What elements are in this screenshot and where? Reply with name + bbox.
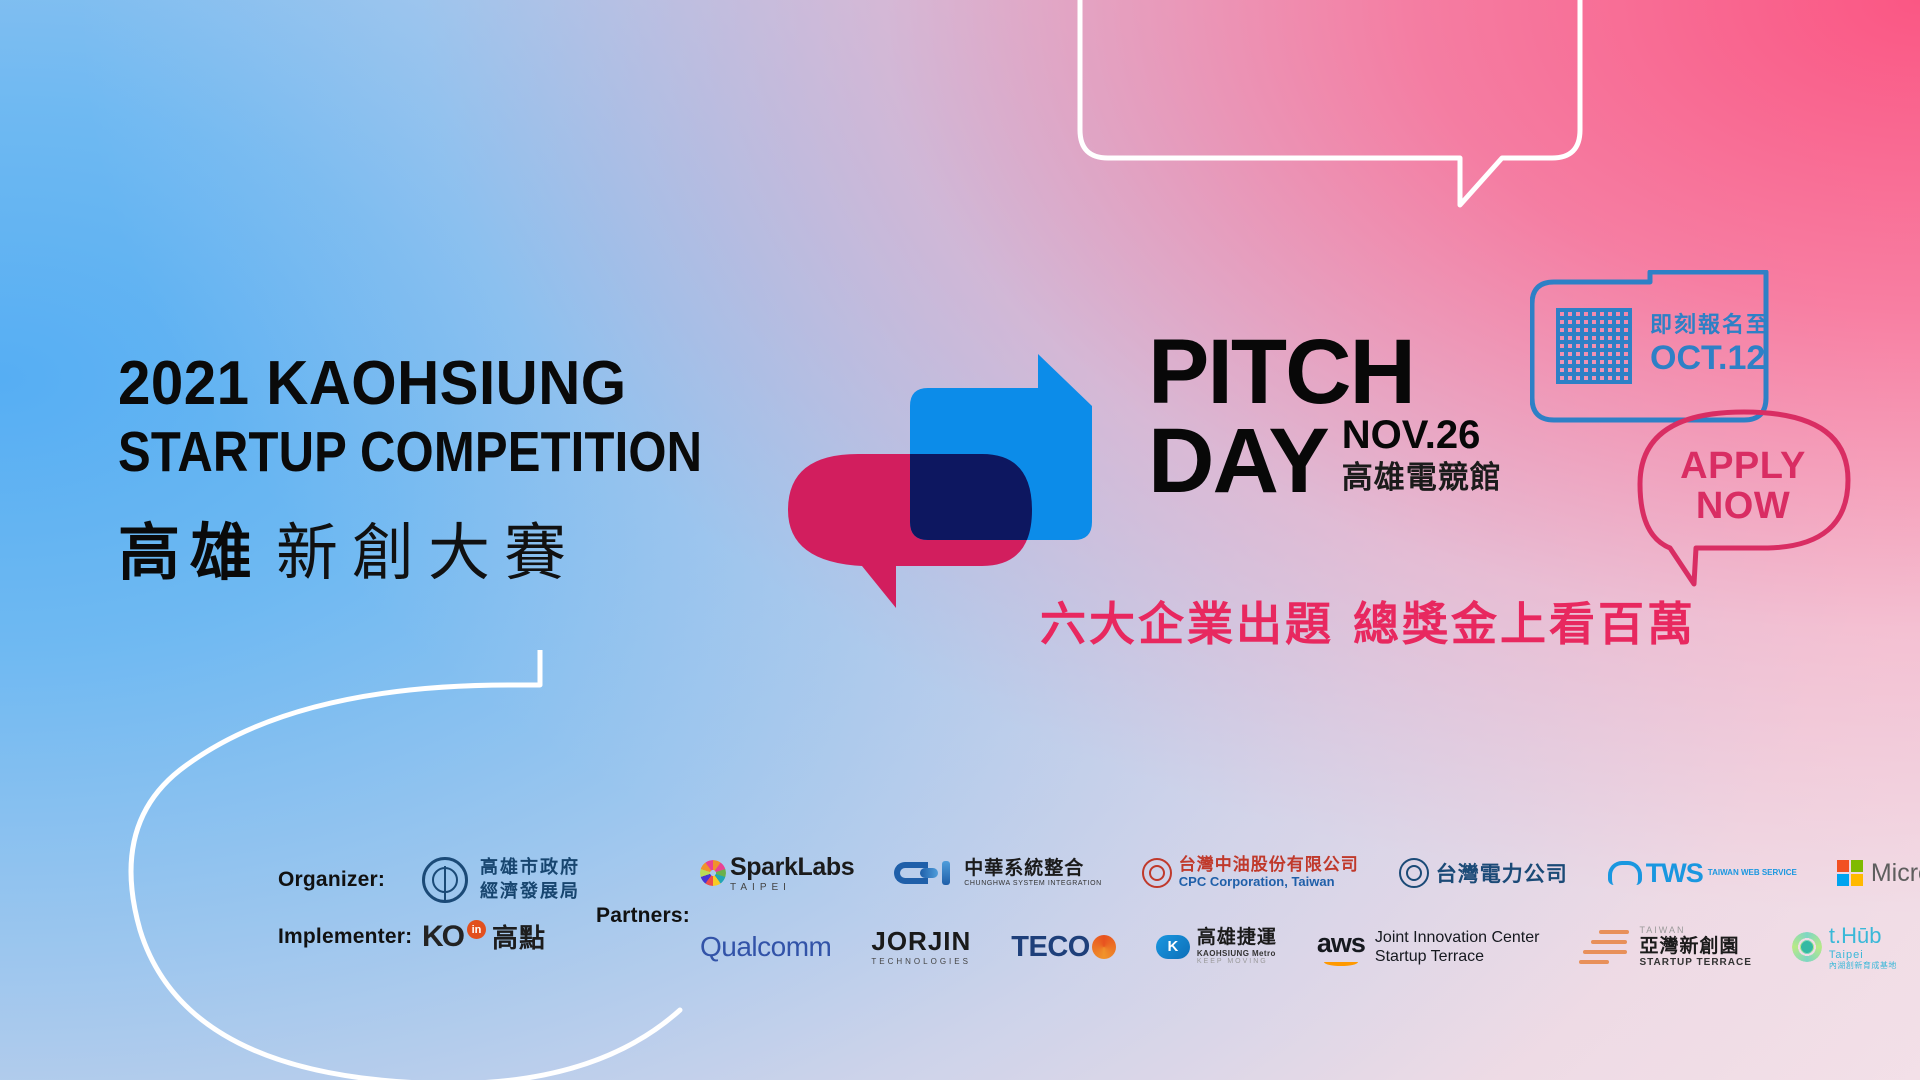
partner-microsoft: Microsoft: [1837, 859, 1920, 888]
partner-qualcomm: Qualcomm: [700, 931, 831, 963]
tws-name: TWS: [1646, 858, 1703, 889]
apply-now-label: APPLY NOW: [1636, 446, 1850, 527]
registration-deadline-card: 即刻報名至 OCT.12: [1530, 270, 1790, 410]
cpc-name: 台灣中油股份有限公司: [1179, 856, 1359, 876]
qr-row: 即刻報名至 OCT.12: [1556, 308, 1770, 384]
implementer-label: Implementer:: [278, 925, 400, 949]
partner-sparklabs: SparkLabs TAIPEI: [700, 853, 854, 893]
title-year-city: 2021 KAOHSIUNG: [118, 352, 720, 415]
aws-arrow-icon: [1324, 958, 1358, 966]
thub-sub2: 內湖創新育成基地: [1829, 961, 1897, 970]
prize-tagline: 六大企業出題 總獎金上看百萬: [1040, 588, 1696, 654]
csi-name: 中華系統整合: [964, 858, 1102, 880]
apply-now-button[interactable]: APPLY NOW: [1636, 408, 1886, 590]
kaohsiung-metro-name: 高雄捷運: [1197, 927, 1277, 949]
title-competition: STARTUP COMPETITION: [118, 419, 668, 486]
credits-section: Organizer: 高雄市政府 經濟發展局 Implementer: KO i…: [0, 826, 1920, 1026]
partner-csi: 中華系統整合 CHUNGHWA SYSTEM INTEGRATION: [894, 858, 1102, 888]
kaohsiung-metro-sub: KAOHSIUNG Metro: [1197, 949, 1277, 958]
thub-name: t.Hūb: [1829, 923, 1897, 948]
startup-terrace-cap: TAIWAN: [1639, 925, 1751, 935]
teco-name: TECO: [1011, 931, 1090, 964]
title-chinese-light: 新創大賽: [276, 502, 580, 592]
partner-taipower: 台灣電力公司: [1399, 858, 1568, 888]
partner-logo-grid: SparkLabs TAIPEI 中華系統整合 CHUNGHWA SYSTEM …: [700, 842, 1890, 978]
kaohsiung-metro-icon: K: [1156, 935, 1190, 959]
title-chinese-bold: 高雄: [118, 502, 262, 592]
apply-line1: APPLY: [1636, 446, 1850, 486]
jorjin-sub: TECHNOLOGIES: [871, 957, 971, 966]
outline-bubble-top: [1060, 0, 1600, 240]
implementer-row: Implementer: KO in 高點: [278, 918, 546, 955]
linkedin-badge-icon: in: [467, 920, 486, 939]
tws-sub: TAIWAN WEB SERVICE: [1708, 868, 1797, 878]
kaohsiung-government-seal-icon: [422, 857, 468, 903]
organizer-name-line2: 經濟發展局: [480, 880, 580, 904]
apply-line2: NOW: [1636, 486, 1850, 526]
organizer-name: 高雄市政府 經濟發展局: [480, 856, 580, 905]
taipower-name: 台灣電力公司: [1436, 858, 1568, 888]
tws-cloud-icon: [1608, 861, 1642, 885]
day-date-row: DAY NOV.26 高雄電競館: [1148, 415, 1502, 504]
implementer-mark: KO: [422, 920, 463, 954]
event-date: NOV.26: [1342, 415, 1502, 455]
partner-jorjin: JORJIN TECHNOLOGIES: [871, 927, 971, 966]
taipower-emblem-icon: [1399, 858, 1429, 888]
kaohsiung-metro-sub2: KEEP MOVING: [1197, 958, 1277, 966]
cpc-sub: CPC Corporation, Taiwan: [1179, 875, 1359, 890]
day-word: DAY: [1148, 419, 1328, 504]
sparklabs-sub: TAIPEI: [730, 882, 854, 894]
pitch-word: PITCH: [1148, 330, 1502, 415]
partner-kaohsiung-metro: K 高雄捷運 KAOHSIUNG Metro KEEP MOVING: [1156, 927, 1277, 966]
implementer-logo: KO in 高點: [422, 918, 546, 955]
partner-cpc: 台灣中油股份有限公司 CPC Corporation, Taiwan: [1142, 856, 1359, 890]
partner-row-1: SparkLabs TAIPEI 中華系統整合 CHUNGHWA SYSTEM …: [700, 842, 1890, 904]
organizer-name-line1: 高雄市政府: [480, 856, 580, 880]
microsoft-name: Microsoft: [1871, 859, 1920, 888]
title-chinese: 高雄 新創大賽: [118, 502, 758, 592]
partner-teco: TECO: [1011, 931, 1116, 964]
organizer-label: Organizer:: [278, 868, 400, 892]
event-date-venue: NOV.26 高雄電競館: [1342, 415, 1502, 504]
partner-aws-startup-terrace: aws Joint Innovation Center Startup Terr…: [1317, 928, 1540, 966]
deadline-text: 即刻報名至 OCT.12: [1650, 314, 1770, 378]
pitch-day-block: PITCH DAY NOV.26 高雄電競館: [1148, 330, 1502, 503]
partner-startup-terrace: TAIWAN 亞灣新創園 STARTUP TERRACE: [1579, 925, 1751, 969]
startup-terrace-sub: STARTUP TERRACE: [1639, 957, 1751, 969]
aws-sub: Joint Innovation Center: [1375, 928, 1540, 947]
deadline-date: OCT.12: [1650, 340, 1770, 377]
headline-block: 2021 KAOHSIUNG STARTUP COMPETITION 高雄 新創…: [118, 352, 758, 592]
partners-label: Partners:: [596, 904, 690, 928]
deadline-label: 即刻報名至: [1650, 314, 1770, 338]
implementer-name: 高點: [492, 918, 546, 955]
cpc-emblem-icon: [1142, 858, 1172, 888]
qualcomm-name: Qualcomm: [700, 931, 831, 963]
microsoft-logo-icon: [1837, 860, 1863, 886]
csi-sub: CHUNGHWA SYSTEM INTEGRATION: [964, 880, 1102, 888]
sparklabs-name: SparkLabs: [730, 853, 854, 882]
jorjin-name: JORJIN: [871, 927, 971, 957]
aws-name: aws: [1317, 928, 1365, 959]
csi-logo-icon: [894, 860, 956, 886]
organizer-row: Organizer: 高雄市政府 經濟發展局: [278, 856, 580, 905]
event-venue: 高雄電競館: [1342, 459, 1502, 498]
thub-burst-icon: [1792, 932, 1822, 962]
partner-row-2: Qualcomm JORJIN TECHNOLOGIES TECO K 高雄捷運: [700, 916, 1890, 978]
aws-sub2: Startup Terrace: [1375, 947, 1540, 966]
promo-banner: 2021 KAOHSIUNG STARTUP COMPETITION 高雄 新創…: [0, 0, 1920, 1080]
qr-code-icon[interactable]: [1556, 308, 1632, 384]
teco-swirl-icon: [1092, 935, 1116, 959]
startup-terrace-bars-icon: [1579, 930, 1631, 964]
partner-thub: t.Hūb Taipei 內湖創新育成基地: [1792, 923, 1897, 970]
sparklabs-burst-icon: [700, 860, 726, 886]
thub-sub: Taipei: [1829, 949, 1897, 962]
startup-terrace-name: 亞灣新創園: [1639, 936, 1751, 958]
partner-tws: TWS TAIWAN WEB SERVICE: [1608, 858, 1797, 889]
